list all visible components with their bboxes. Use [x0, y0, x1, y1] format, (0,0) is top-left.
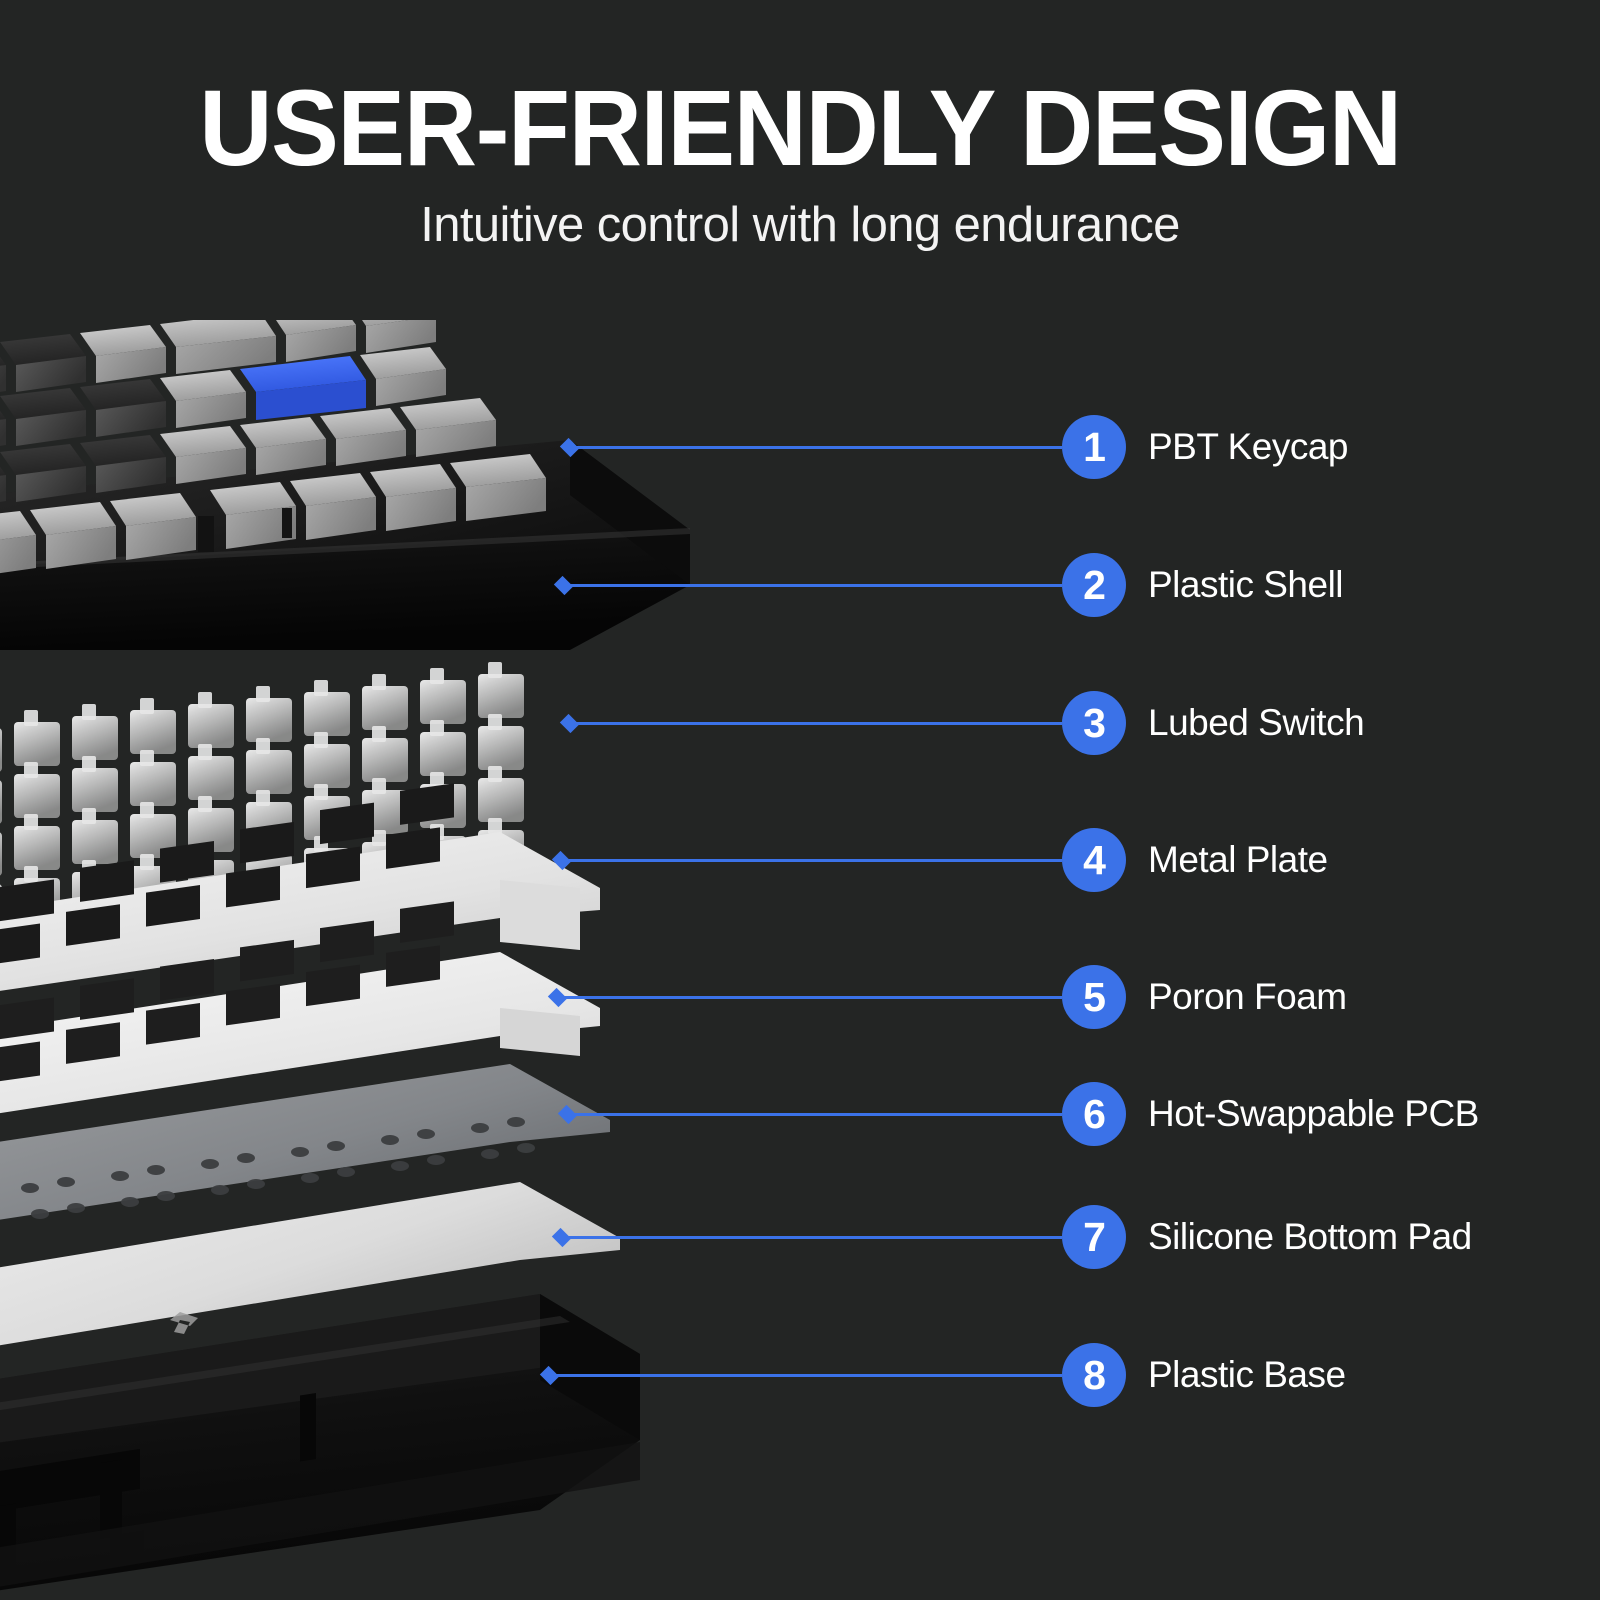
header: USER-FRIENDLY DESIGN Intuitive control w… [0, 0, 1600, 253]
plastic-base-layer [0, 1294, 640, 1600]
callout-3[interactable]: 3 Lubed Switch [0, 691, 1600, 755]
callout-badge-6[interactable]: 6 [1062, 1082, 1126, 1146]
callout-badge-7[interactable]: 7 [1062, 1205, 1126, 1269]
callout-6[interactable]: 6 Hot-Swappable PCB [0, 1082, 1600, 1146]
leader-line [560, 859, 1062, 862]
callout-label-1: PBT Keycap [1148, 422, 1348, 472]
callout-label-6: Hot-Swappable PCB [1148, 1089, 1479, 1139]
leader-line [568, 446, 1062, 449]
callout-badge-2[interactable]: 2 [1062, 553, 1126, 617]
callout-label-2: Plastic Shell [1148, 560, 1343, 610]
callout-badge-3[interactable]: 3 [1062, 691, 1126, 755]
leader-line [548, 1374, 1062, 1377]
exploded-keyboard-illustration [0, 320, 780, 1600]
callout-4[interactable]: 4 Metal Plate [0, 828, 1600, 892]
callout-badge-5[interactable]: 5 [1062, 965, 1126, 1029]
page-title: USER-FRIENDLY DESIGN [48, 0, 1552, 177]
callout-7[interactable]: 7 Silicone Bottom Pad [0, 1205, 1600, 1269]
leader-line [566, 1113, 1062, 1116]
callout-label-4: Metal Plate [1148, 835, 1328, 885]
infographic-canvas: USER-FRIENDLY DESIGN Intuitive control w… [0, 0, 1600, 1600]
callout-label-8: Plastic Base [1148, 1350, 1346, 1400]
callout-label-7: Silicone Bottom Pad [1148, 1212, 1472, 1262]
callout-badge-8[interactable]: 8 [1062, 1343, 1126, 1407]
leader-line [562, 584, 1062, 587]
leader-line [560, 1236, 1062, 1239]
leader-line [568, 722, 1062, 725]
leader-line [556, 996, 1062, 999]
callout-badge-1[interactable]: 1 [1062, 415, 1126, 479]
callout-8[interactable]: 8 Plastic Base [0, 1343, 1600, 1407]
callout-2[interactable]: 2 Plastic Shell [0, 553, 1600, 617]
callout-label-3: Lubed Switch [1148, 698, 1364, 748]
callout-label-5: Poron Foam [1148, 972, 1347, 1022]
page-subtitle: Intuitive control with long endurance [0, 177, 1600, 253]
callout-5[interactable]: 5 Poron Foam [0, 965, 1600, 1029]
callout-1[interactable]: 1 PBT Keycap [0, 415, 1600, 479]
callout-badge-4[interactable]: 4 [1062, 828, 1126, 892]
